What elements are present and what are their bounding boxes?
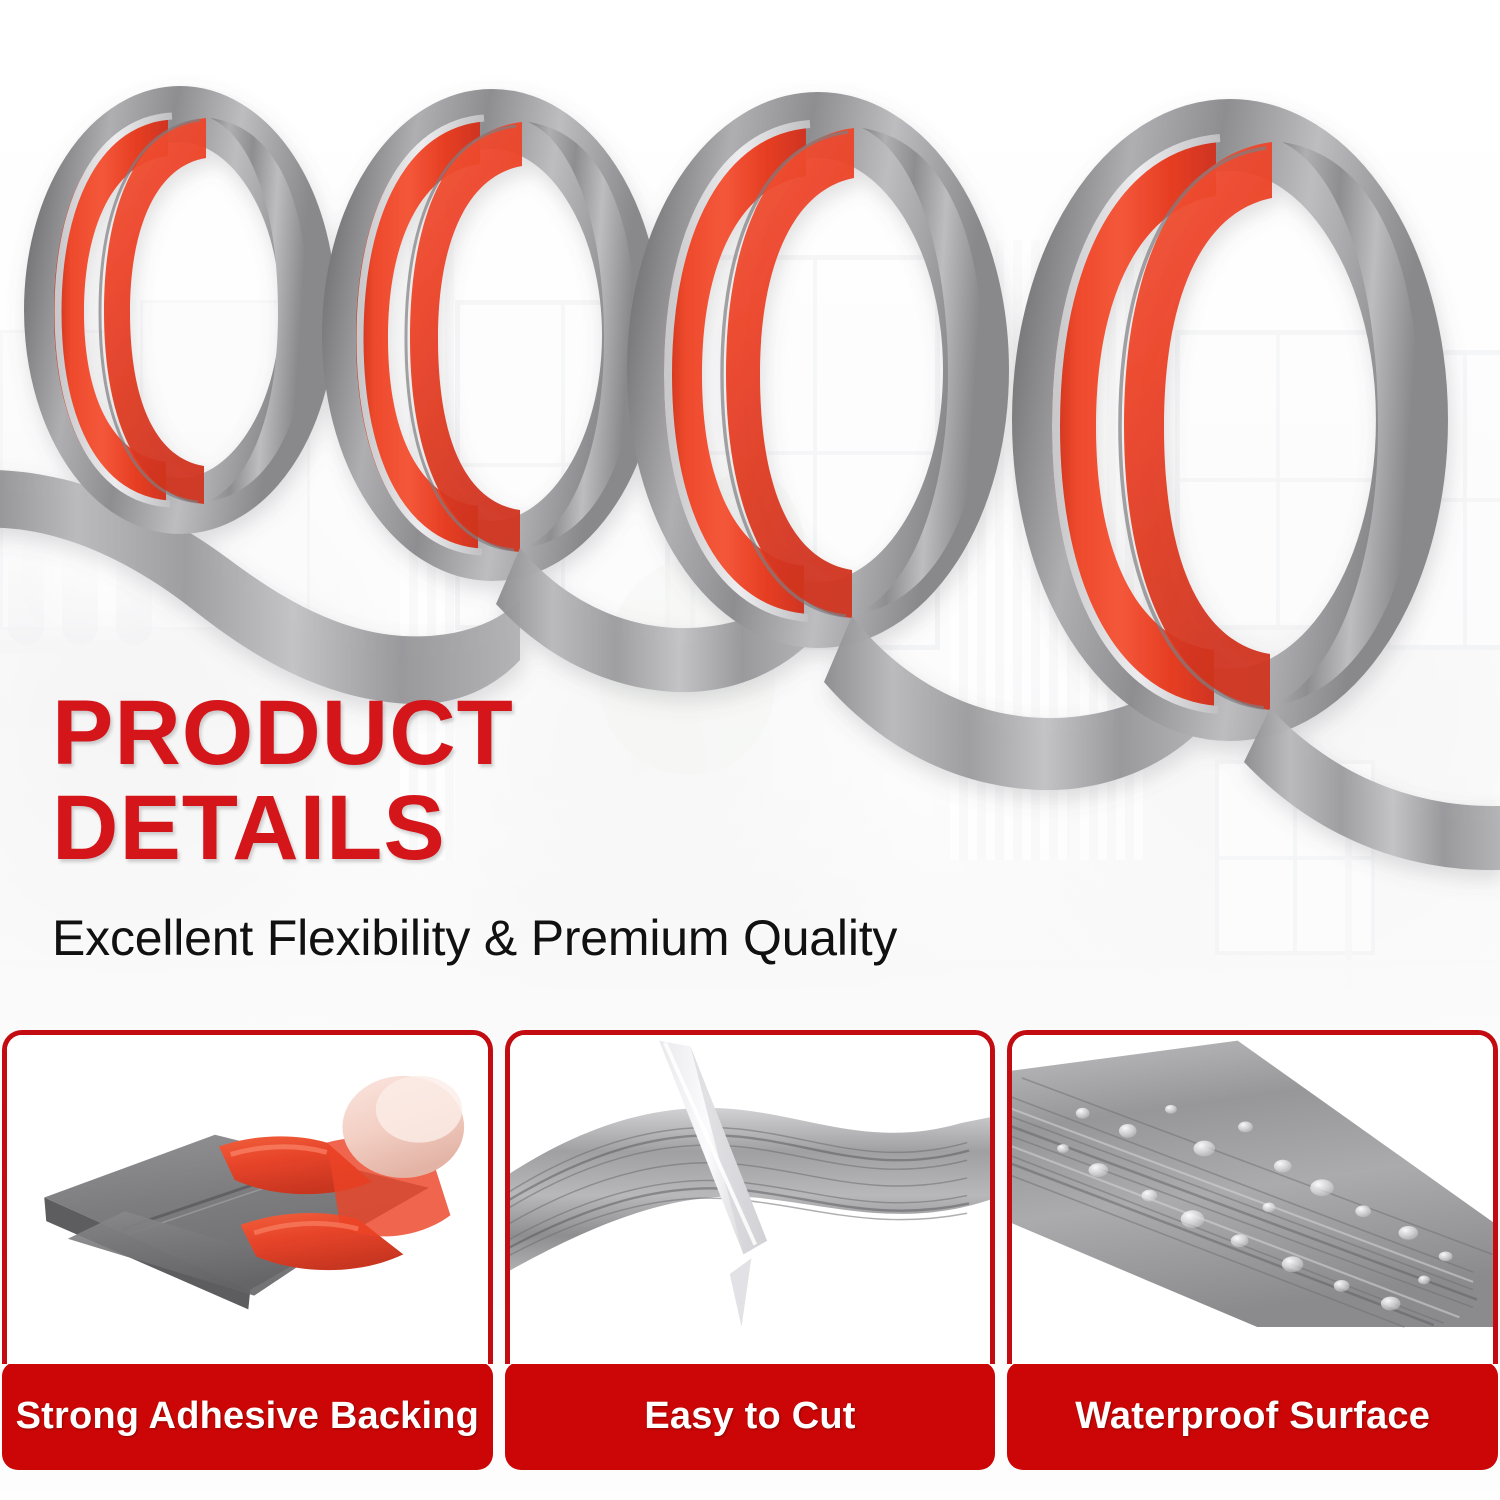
page-title-line2: DETAILS bbox=[52, 785, 1252, 872]
feature-panel-cut[interactable]: Easy to Cut bbox=[505, 1030, 996, 1470]
panel-caption-cut: Easy to Cut bbox=[505, 1362, 996, 1470]
panel-frame bbox=[505, 1030, 996, 1364]
feature-panel-waterproof[interactable]: Waterproof Surface bbox=[1007, 1030, 1498, 1470]
panel-frame bbox=[1007, 1030, 1498, 1364]
feature-panel-adhesive[interactable]: Strong Adhesive Backing bbox=[2, 1030, 493, 1470]
photo-adhesive-backing bbox=[7, 1035, 488, 1364]
page-subtitle: Excellent Flexibility & Premium Quality bbox=[52, 909, 1252, 967]
page-title: PRODUCT DETAILS bbox=[52, 690, 1252, 873]
feature-panels: Strong Adhesive Backing bbox=[0, 1030, 1500, 1470]
panel-caption-adhesive: Strong Adhesive Backing bbox=[2, 1362, 493, 1470]
photo-waterproof-surface bbox=[1012, 1035, 1493, 1364]
headings-block: PRODUCT DETAILS Excellent Flexibility & … bbox=[52, 690, 1252, 967]
panel-caption-waterproof: Waterproof Surface bbox=[1007, 1362, 1498, 1470]
photo-easy-to-cut bbox=[510, 1035, 991, 1364]
page-title-line1: PRODUCT bbox=[52, 682, 514, 784]
panel-frame bbox=[2, 1030, 493, 1364]
product-detail-image: PRODUCT DETAILS Excellent Flexibility & … bbox=[0, 0, 1500, 1500]
